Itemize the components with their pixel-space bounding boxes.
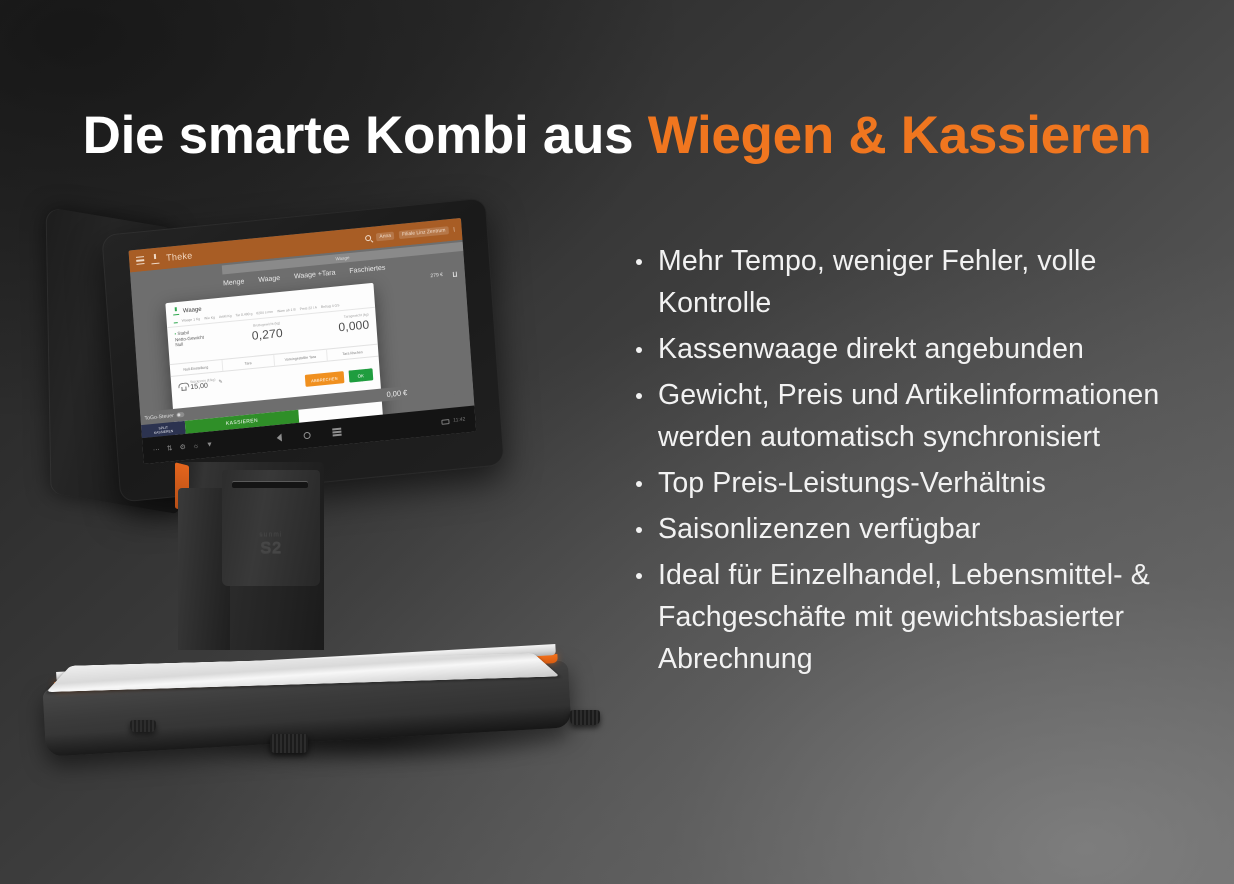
delete-icon[interactable] <box>453 271 457 276</box>
battery-icon <box>441 419 449 425</box>
topbar-divider: | <box>453 227 455 233</box>
togo-steuer-label: ToGo-Steuer <box>144 412 174 421</box>
list-item: Mehr Tempo, weniger Fehler, volle Kontro… <box>628 240 1168 324</box>
settings-icon[interactable]: ⚙ <box>179 443 186 452</box>
device-column: sunmi S2 <box>178 462 324 650</box>
minimize-icon[interactable]: ⋯ <box>153 445 161 454</box>
pos-screen: Theke Anna Filiale Linz Zentrum | Waage … <box>129 218 477 464</box>
printer-paper-slot <box>232 481 308 488</box>
tara-block: Taragewicht (kg) 0,000 <box>338 312 370 334</box>
hamburger-menu-icon[interactable] <box>136 256 145 264</box>
pos-price-value: 279 € <box>430 272 443 279</box>
brutto-value: 0,270 <box>251 326 283 343</box>
recents-icon[interactable] <box>332 428 341 436</box>
adjustable-foot <box>270 734 308 753</box>
wifi-icon: ▼ <box>206 441 213 449</box>
waage-tab-7[interactable]: Betrag 4 GS <box>321 303 340 309</box>
brand-logo: sunmi S2 <box>259 532 282 556</box>
list-item: Ideal für Einzelhandel, Lebensmittel- & … <box>628 554 1168 680</box>
navbar-buttons <box>276 428 341 442</box>
togo-steuer-toggle[interactable]: ToGo-Steuer <box>144 411 185 421</box>
edit-icon[interactable]: ✎ <box>218 379 223 385</box>
balance-scale-icon <box>178 382 187 390</box>
product-illustration: Theke Anna Filiale Linz Zentrum | Waage … <box>30 200 640 800</box>
waage-tab-6[interactable]: Preis 22 / A <box>299 305 317 311</box>
slide-root: Die smarte Kombi aus Wiegen & Kassieren … <box>0 0 1234 884</box>
list-item: Saisonlizenzen verfügbar <box>628 508 1168 550</box>
page-title-accent: Wiegen & Kassieren <box>648 106 1152 165</box>
back-icon[interactable] <box>276 434 282 442</box>
pos-col-2: Waage +Tara <box>294 269 336 280</box>
waage-tab-5[interactable]: Ware ab 1 B <box>277 307 296 313</box>
pos-price-cell: 279 € <box>430 271 457 280</box>
pos-col-0: Menge <box>223 278 245 287</box>
waage-tab-1[interactable]: Wie Kg <box>204 315 215 320</box>
feature-list: Mehr Tempo, weniger Fehler, volle Kontro… <box>628 240 1168 684</box>
toggle-switch[interactable] <box>177 412 185 417</box>
pos-col-1: Waage <box>258 274 280 283</box>
ok-button[interactable]: OK <box>348 368 373 382</box>
tara-value: 0,000 <box>338 317 370 334</box>
pos-total-amount: 0,00 € <box>386 388 407 399</box>
list-item: Kassenwaage direkt angebunden <box>628 328 1168 370</box>
usb-icon: ⇅ <box>166 444 172 453</box>
receipt-printer: sunmi S2 <box>222 470 320 586</box>
waage-tab-2[interactable]: Artikl Kg <box>219 313 232 318</box>
home-icon[interactable] <box>303 431 310 439</box>
list-item: Gewicht, Preis und Artikelinformationen … <box>628 374 1168 458</box>
adjustable-foot <box>130 720 156 732</box>
waage-tab-4[interactable]: 6204 s mm <box>256 309 273 315</box>
navbar-right: 11:42 <box>441 416 465 424</box>
page-title-plain: Die smarte Kombi aus <box>83 106 648 165</box>
waage-tab-3[interactable]: Tar 0,490 g <box>235 311 252 317</box>
user-chip[interactable]: Anna <box>376 232 394 242</box>
unit-price-wrap: Stückpreis (€/kg) 15,00 <box>190 377 216 391</box>
clock: 11:42 <box>453 416 466 423</box>
pos-body: Waage Menge Waage Waage +Tara Faschierte… <box>130 240 474 438</box>
waage-dialog-title: Waage <box>183 306 202 314</box>
navbar-status-icons: ⋯ ⇅ ⚙ ☼ ▼ <box>153 440 214 454</box>
brutto-block: Bruttogewicht (kg) 0,270 <box>251 321 283 343</box>
waage-status-block: • Stabil Netto-Gewicht Null <box>174 329 204 348</box>
page-title: Die smarte Kombi aus Wiegen & Kassieren <box>0 106 1234 165</box>
pos-topbar-right: Anna Filiale Linz Zentrum | <box>365 226 455 243</box>
cancel-button[interactable]: ABBRECHEN <box>305 371 344 387</box>
list-item: Top Preis-Leistungs-Verhältnis <box>628 462 1168 504</box>
unit-price-value: 15,00 <box>190 382 208 391</box>
brightness-icon[interactable]: ☼ <box>193 442 200 450</box>
adjustable-foot <box>570 710 600 725</box>
search-icon[interactable] <box>365 235 371 242</box>
pos-tablet: Theke Anna Filiale Linz Zentrum | Waage … <box>101 197 504 502</box>
waage-tab-0[interactable]: Waage 1 Kg <box>181 316 200 322</box>
store-chip[interactable]: Filiale Linz Zentrum <box>399 226 449 239</box>
pos-topbar-title: Theke <box>166 250 193 263</box>
pos-col-3: Faschiertes <box>349 264 386 275</box>
brand-model: S2 <box>259 539 282 556</box>
split-line-2: KASSIEREN <box>154 429 174 435</box>
scale-icon <box>173 308 179 316</box>
scale-icon <box>151 254 160 264</box>
scale-small-icon <box>173 318 177 323</box>
